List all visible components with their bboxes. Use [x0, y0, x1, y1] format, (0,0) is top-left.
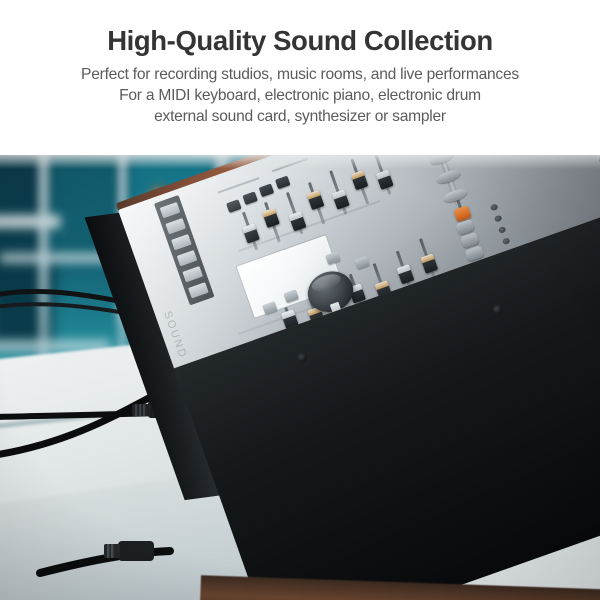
body-screw [492, 304, 503, 315]
fader-cap [307, 190, 325, 210]
wheel-ring [428, 155, 455, 167]
button-strip [154, 195, 215, 305]
header-text-block: High-Quality Sound Collection Perfect fo… [0, 0, 600, 155]
subtitle-line-1: Perfect for recording studios, music roo… [0, 64, 600, 85]
panel-square-button [275, 176, 291, 190]
fader-track [329, 170, 347, 214]
panel-label [218, 177, 260, 194]
panel-square-button [259, 183, 275, 197]
panel-square-button [325, 251, 341, 265]
panel-square-button [354, 256, 370, 270]
subtitle-group: Perfect for recording studios, music roo… [0, 64, 600, 127]
fader-track [264, 202, 281, 243]
panel-square-button [242, 191, 258, 205]
led-indicator [502, 237, 511, 245]
product-banner: High-Quality Sound Collection Perfect fo… [0, 0, 600, 600]
fader-cap [396, 264, 414, 284]
fader-track [372, 155, 392, 195]
led-indicator [490, 203, 499, 211]
panel-square-button [262, 301, 278, 315]
panel-button [165, 218, 186, 234]
orange-fader-cap [453, 205, 471, 222]
fader-cap [420, 253, 438, 273]
panel-label [272, 158, 308, 173]
body-screw [297, 352, 308, 363]
panel-button [182, 266, 203, 282]
fader-cap [350, 170, 368, 190]
fader-cap [262, 208, 280, 228]
wheel-stem [424, 155, 462, 207]
fader-cap [289, 211, 307, 231]
fader-track [350, 158, 369, 204]
subtitle-line-2: For a MIDI keyboard, electronic piano, e… [0, 85, 600, 106]
fader-cap [242, 223, 260, 243]
panel-square-button [226, 199, 242, 213]
fader-cap [332, 189, 350, 209]
wheel-ring [442, 187, 469, 205]
photo-scene: SOUND [0, 155, 600, 600]
panel-button [171, 234, 192, 250]
fader-track [242, 212, 258, 251]
product-photo: SOUND [0, 155, 600, 600]
fader-track [286, 192, 304, 234]
wheel-ring [435, 168, 462, 186]
fader-track [308, 182, 326, 224]
control-pad [455, 219, 475, 236]
panel-button [188, 282, 209, 298]
fader-track [396, 251, 412, 290]
fader-cap [376, 170, 394, 190]
panel-label [238, 200, 380, 252]
fader-track [419, 238, 435, 277]
panel-button [160, 202, 181, 218]
control-pad [460, 232, 480, 249]
subtitle-line-3: external sound card, synthesizer or samp… [0, 106, 600, 127]
page-title: High-Quality Sound Collection [0, 24, 600, 58]
led-indicator [494, 215, 503, 223]
synth-display [235, 234, 344, 319]
fader-track [456, 200, 466, 222]
led-indicator [498, 226, 507, 234]
panel-button [177, 250, 198, 266]
panel-square-button [283, 289, 299, 303]
